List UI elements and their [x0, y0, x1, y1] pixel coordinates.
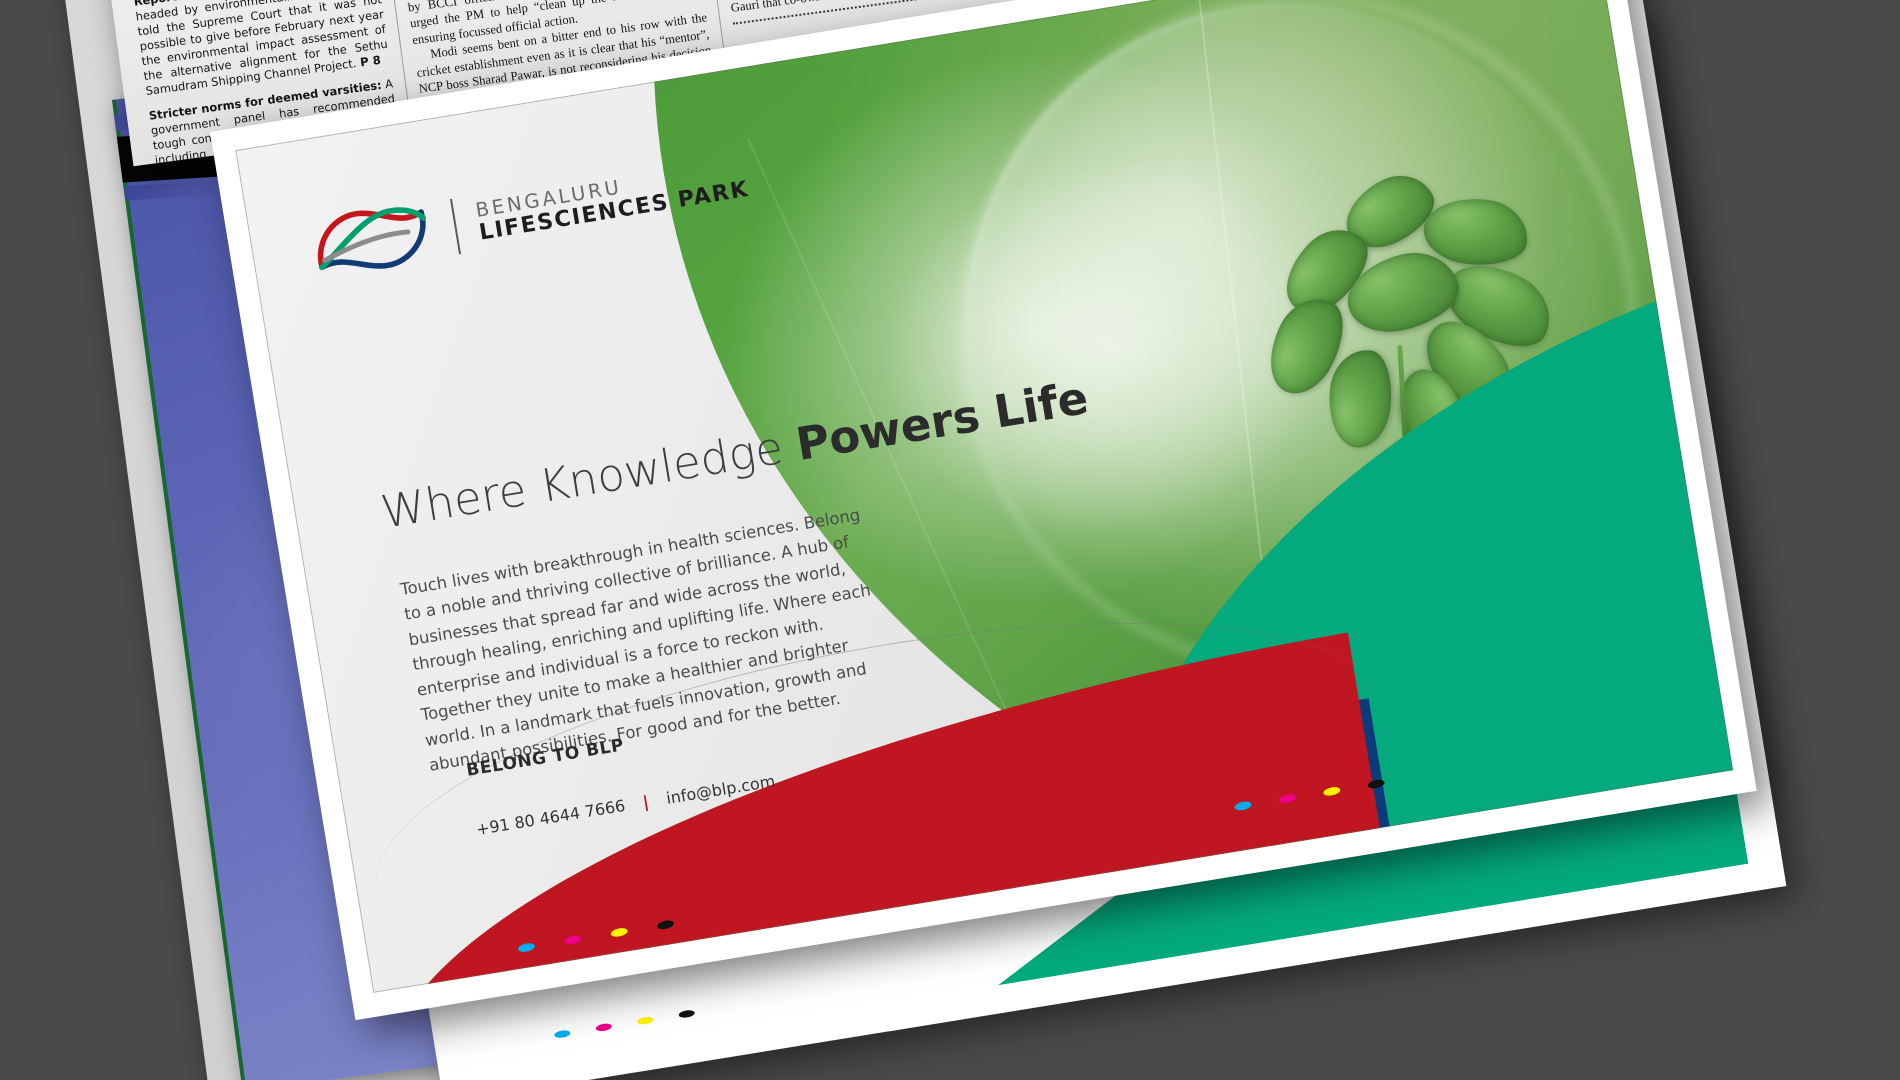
logo-divider — [450, 199, 461, 255]
bengaluru-lifesciences-park-leaf-mark — [304, 190, 440, 291]
body-copy: Touch lives with breakthrough in health … — [398, 501, 895, 778]
news-page-ref: P 8 — [355, 52, 381, 69]
phone-number[interactable]: +91 80 4644 7666 — [475, 796, 627, 839]
screenshot-stage: Report on Sethu by Feb: expert panel, he… — [0, 0, 1900, 1080]
poster-green-edge — [112, 99, 246, 1080]
contact-separator: | — [641, 792, 650, 812]
second-brochure-registration-marks — [554, 1009, 695, 1039]
